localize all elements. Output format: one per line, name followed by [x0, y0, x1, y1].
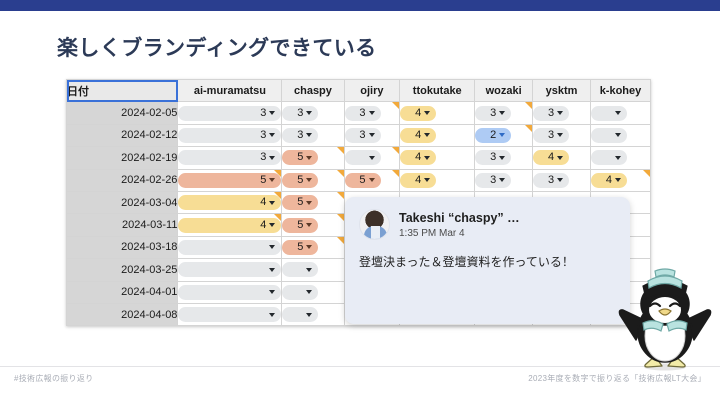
- rating-cell[interactable]: [282, 259, 344, 281]
- rating-value: 3: [359, 108, 365, 119]
- chevron-down-icon[interactable]: [369, 111, 375, 115]
- row-date-cell[interactable]: 2024-03-18: [67, 236, 178, 258]
- table-header-row: 日付ai-muramatsuchaspyojiryttokutakewozaki…: [67, 80, 651, 102]
- footer-divider: [0, 366, 720, 367]
- rating-dropdown[interactable]: 4: [400, 106, 436, 121]
- rating-value: 3: [260, 130, 266, 141]
- rating-dropdown[interactable]: 4: [178, 195, 281, 210]
- chevron-down-icon[interactable]: [615, 178, 621, 182]
- rating-cell[interactable]: 3: [475, 147, 533, 169]
- chevron-down-icon[interactable]: [557, 178, 563, 182]
- comment-marker-icon[interactable]: [337, 170, 344, 177]
- chevron-down-icon[interactable]: [424, 133, 430, 137]
- rating-value: 5: [297, 175, 303, 186]
- chevron-down-icon[interactable]: [269, 178, 275, 182]
- rating-dropdown[interactable]: [591, 106, 627, 121]
- chevron-down-icon[interactable]: [269, 245, 275, 249]
- rating-cell[interactable]: [178, 259, 282, 281]
- rating-value: 4: [415, 175, 421, 186]
- row-date-cell[interactable]: 2024-02-19: [67, 147, 178, 169]
- rating-cell[interactable]: 2: [475, 124, 533, 146]
- rating-dropdown[interactable]: 4: [400, 128, 436, 143]
- rating-cell[interactable]: [282, 303, 344, 325]
- rating-value: 4: [260, 197, 266, 208]
- chevron-down-icon[interactable]: [306, 133, 312, 137]
- rating-dropdown[interactable]: 4: [400, 173, 436, 188]
- chevron-down-icon[interactable]: [306, 268, 312, 272]
- chevron-down-icon[interactable]: [306, 201, 312, 205]
- footer-left-text: #技術広報の振り返り: [14, 373, 93, 384]
- chevron-down-icon[interactable]: [369, 178, 375, 182]
- rating-cell[interactable]: 5: [282, 191, 344, 213]
- rating-dropdown[interactable]: 5: [345, 173, 381, 188]
- rating-cell[interactable]: 3: [533, 124, 591, 146]
- rating-dropdown[interactable]: 5: [282, 195, 318, 210]
- rating-cell[interactable]: 4: [400, 169, 475, 191]
- comment-popup[interactable]: Takeshi “chaspy” … 1:35 PM Mar 4 登壇決まった＆…: [345, 197, 630, 324]
- rating-cell[interactable]: 3: [475, 102, 533, 124]
- rating-value: 4: [606, 175, 612, 186]
- top-accent-bar: [0, 0, 720, 11]
- chevron-down-icon[interactable]: [269, 111, 275, 115]
- rating-dropdown[interactable]: 3: [178, 150, 281, 165]
- chevron-down-icon[interactable]: [306, 223, 312, 227]
- column-header-date[interactable]: 日付: [67, 80, 178, 102]
- chevron-down-icon[interactable]: [369, 133, 375, 137]
- rating-dropdown[interactable]: 5: [282, 150, 318, 165]
- rating-cell[interactable]: 4: [400, 147, 475, 169]
- rating-dropdown[interactable]: [178, 240, 281, 255]
- chevron-down-icon[interactable]: [499, 178, 505, 182]
- rating-dropdown[interactable]: 3: [282, 106, 318, 121]
- rating-dropdown[interactable]: 3: [533, 106, 569, 121]
- rating-cell[interactable]: 3: [475, 169, 533, 191]
- column-header-ai-muramatsu[interactable]: ai-muramatsu: [178, 80, 282, 102]
- rating-cell[interactable]: [590, 102, 650, 124]
- rating-cell[interactable]: 3: [178, 102, 282, 124]
- rating-dropdown[interactable]: [178, 307, 281, 322]
- row-date-cell[interactable]: 2024-03-25: [67, 259, 178, 281]
- comment-marker-icon[interactable]: [274, 214, 281, 221]
- chevron-down-icon[interactable]: [424, 156, 430, 160]
- slide-canvas: 楽しくブランディングできている 日付ai-muramatsuchaspyojir…: [0, 0, 720, 405]
- chevron-down-icon[interactable]: [615, 133, 621, 137]
- row-date-cell[interactable]: 2024-04-08: [67, 303, 178, 325]
- rating-value: 3: [260, 108, 266, 119]
- table-row: 2024-02-05333433: [67, 102, 651, 124]
- rating-value: 3: [297, 108, 303, 119]
- rating-cell[interactable]: 3: [344, 102, 400, 124]
- chevron-down-icon[interactable]: [306, 290, 312, 294]
- rating-dropdown[interactable]: 3: [345, 128, 381, 143]
- chevron-down-icon[interactable]: [269, 156, 275, 160]
- comment-marker-icon[interactable]: [337, 237, 344, 244]
- rating-dropdown[interactable]: 3: [475, 150, 511, 165]
- rating-dropdown[interactable]: 3: [533, 128, 569, 143]
- rating-value: 4: [415, 152, 421, 163]
- comment-marker-icon[interactable]: [337, 192, 344, 199]
- chevron-down-icon[interactable]: [306, 245, 312, 249]
- chevron-down-icon[interactable]: [269, 201, 275, 205]
- rating-value: 3: [548, 175, 554, 186]
- rating-dropdown[interactable]: 3: [533, 173, 569, 188]
- rating-cell[interactable]: 4: [590, 169, 650, 191]
- rating-value: 5: [297, 242, 303, 253]
- rating-dropdown[interactable]: [591, 128, 627, 143]
- rating-dropdown[interactable]: [282, 307, 318, 322]
- rating-value: 5: [260, 175, 266, 186]
- rating-value: 2: [490, 130, 496, 141]
- rating-cell[interactable]: 3: [282, 124, 344, 146]
- chevron-down-icon[interactable]: [269, 290, 275, 294]
- rating-cell[interactable]: [344, 147, 400, 169]
- column-header-ysktm[interactable]: ysktm: [533, 80, 591, 102]
- rating-cell[interactable]: 5: [178, 169, 282, 191]
- rating-value: 4: [260, 220, 266, 231]
- rating-dropdown[interactable]: 3: [178, 128, 281, 143]
- row-date-cell[interactable]: 2024-02-05: [67, 102, 178, 124]
- chevron-down-icon[interactable]: [269, 133, 275, 137]
- column-header-ttokutake[interactable]: ttokutake: [400, 80, 475, 102]
- column-header-wozaki[interactable]: wozaki: [475, 80, 533, 102]
- rating-cell[interactable]: 4: [400, 102, 475, 124]
- rating-dropdown[interactable]: [345, 150, 381, 165]
- rating-cell[interactable]: 3: [533, 102, 591, 124]
- rating-value: 5: [359, 175, 365, 186]
- rating-cell[interactable]: 3: [533, 169, 591, 191]
- chevron-down-icon[interactable]: [306, 313, 312, 317]
- rating-dropdown[interactable]: 3: [178, 106, 281, 121]
- rating-cell[interactable]: 4: [400, 124, 475, 146]
- rating-cell[interactable]: 4: [178, 191, 282, 213]
- chevron-down-icon[interactable]: [306, 178, 312, 182]
- rating-dropdown[interactable]: 3: [475, 173, 511, 188]
- comment-marker-icon[interactable]: [643, 170, 650, 177]
- table-row: 2024-02-1935434: [67, 147, 651, 169]
- row-date-cell[interactable]: 2024-03-11: [67, 214, 178, 236]
- chevron-down-icon[interactable]: [306, 156, 312, 160]
- rating-dropdown[interactable]: 4: [533, 150, 569, 165]
- rating-cell[interactable]: 5: [344, 169, 400, 191]
- chevron-down-icon[interactable]: [269, 313, 275, 317]
- comment-marker-icon[interactable]: [392, 170, 399, 177]
- rating-dropdown[interactable]: 5: [282, 240, 318, 255]
- comment-marker-icon[interactable]: [525, 102, 532, 109]
- rating-value: 5: [297, 152, 303, 163]
- rating-cell[interactable]: 5: [282, 214, 344, 236]
- comment-marker-icon[interactable]: [274, 170, 281, 177]
- chevron-down-icon[interactable]: [369, 156, 375, 160]
- rating-dropdown[interactable]: 3: [475, 106, 511, 121]
- comment-marker-icon[interactable]: [392, 102, 399, 109]
- table-row: 2024-02-265554334: [67, 169, 651, 191]
- rating-value: 5: [297, 220, 303, 231]
- rating-cell[interactable]: 5: [282, 169, 344, 191]
- rating-dropdown[interactable]: 3: [345, 106, 381, 121]
- avatar: [359, 209, 390, 240]
- rating-value: 3: [297, 130, 303, 141]
- chevron-down-icon[interactable]: [557, 111, 563, 115]
- chevron-down-icon[interactable]: [557, 133, 563, 137]
- chevron-down-icon[interactable]: [557, 156, 563, 160]
- rating-dropdown[interactable]: [282, 262, 318, 277]
- rating-cell[interactable]: [282, 281, 344, 303]
- rating-cell[interactable]: 5: [282, 236, 344, 258]
- rating-dropdown[interactable]: [178, 285, 281, 300]
- rating-dropdown[interactable]: 4: [591, 173, 627, 188]
- rating-value: 3: [490, 108, 496, 119]
- rating-value: 3: [548, 130, 554, 141]
- rating-dropdown[interactable]: 5: [282, 218, 318, 233]
- rating-dropdown[interactable]: 3: [282, 128, 318, 143]
- table-row: 2024-02-12333423: [67, 124, 651, 146]
- chevron-down-icon[interactable]: [615, 111, 621, 115]
- row-date-cell[interactable]: 2024-03-04: [67, 191, 178, 213]
- comment-header: Takeshi “chaspy” … 1:35 PM Mar 4: [359, 209, 616, 240]
- rating-cell[interactable]: [590, 124, 650, 146]
- chevron-down-icon[interactable]: [615, 156, 621, 160]
- rating-value: 3: [490, 175, 496, 186]
- rating-dropdown[interactable]: [282, 285, 318, 300]
- rating-value: 3: [490, 152, 496, 163]
- chevron-down-icon[interactable]: [306, 111, 312, 115]
- rating-dropdown[interactable]: [178, 262, 281, 277]
- chevron-down-icon[interactable]: [269, 223, 275, 227]
- chevron-down-icon[interactable]: [499, 156, 505, 160]
- footer-right-text: 2023年度を数字で振り返る「技術広報LT大会」: [528, 373, 706, 384]
- column-header-k-kohey[interactable]: k-kohey: [590, 80, 650, 102]
- row-date-cell[interactable]: 2024-02-26: [67, 169, 178, 191]
- rating-dropdown[interactable]: 2: [475, 128, 511, 143]
- rating-dropdown[interactable]: 4: [400, 150, 436, 165]
- chevron-down-icon[interactable]: [499, 133, 505, 137]
- column-header-chaspy[interactable]: chaspy: [282, 80, 344, 102]
- chevron-down-icon[interactable]: [424, 178, 430, 182]
- chevron-down-icon[interactable]: [499, 111, 505, 115]
- rating-dropdown[interactable]: 5: [178, 173, 281, 188]
- rating-cell[interactable]: [590, 147, 650, 169]
- chevron-down-icon[interactable]: [424, 111, 430, 115]
- rating-value: 3: [260, 152, 266, 163]
- rating-cell[interactable]: 3: [178, 147, 282, 169]
- row-date-cell[interactable]: 2024-04-01: [67, 281, 178, 303]
- comment-marker-icon[interactable]: [337, 147, 344, 154]
- comment-author: Takeshi “chaspy” …: [399, 211, 520, 226]
- rating-dropdown[interactable]: 5: [282, 173, 318, 188]
- rating-value: 4: [415, 108, 421, 119]
- rating-cell[interactable]: [178, 236, 282, 258]
- rating-cell[interactable]: [178, 303, 282, 325]
- rating-cell[interactable]: 4: [533, 147, 591, 169]
- rating-value: 4: [415, 130, 421, 141]
- chevron-down-icon[interactable]: [269, 268, 275, 272]
- comment-marker-icon[interactable]: [337, 214, 344, 221]
- comment-marker-icon[interactable]: [274, 192, 281, 199]
- comment-marker-icon[interactable]: [525, 125, 532, 132]
- page-title: 楽しくブランディングできている: [57, 32, 377, 62]
- rating-cell[interactable]: 4: [178, 214, 282, 236]
- rating-cell[interactable]: 5: [282, 147, 344, 169]
- rating-cell[interactable]: 3: [282, 102, 344, 124]
- rating-cell[interactable]: 3: [178, 124, 282, 146]
- comment-marker-icon[interactable]: [392, 147, 399, 154]
- comment-body: 登壇決まった＆登壇資料を作っている！: [359, 253, 591, 272]
- penguin-mascot-icon: [615, 268, 715, 372]
- rating-value: 3: [359, 130, 365, 141]
- rating-dropdown[interactable]: 4: [178, 218, 281, 233]
- rating-cell[interactable]: 3: [344, 124, 400, 146]
- rating-cell[interactable]: [178, 281, 282, 303]
- rating-value: 3: [548, 108, 554, 119]
- rating-value: 5: [297, 197, 303, 208]
- rating-value: 4: [548, 152, 554, 163]
- rating-dropdown[interactable]: [591, 150, 627, 165]
- row-date-cell[interactable]: 2024-02-12: [67, 124, 178, 146]
- comment-timestamp: 1:35 PM Mar 4: [399, 228, 520, 239]
- column-header-ojiry[interactable]: ojiry: [344, 80, 400, 102]
